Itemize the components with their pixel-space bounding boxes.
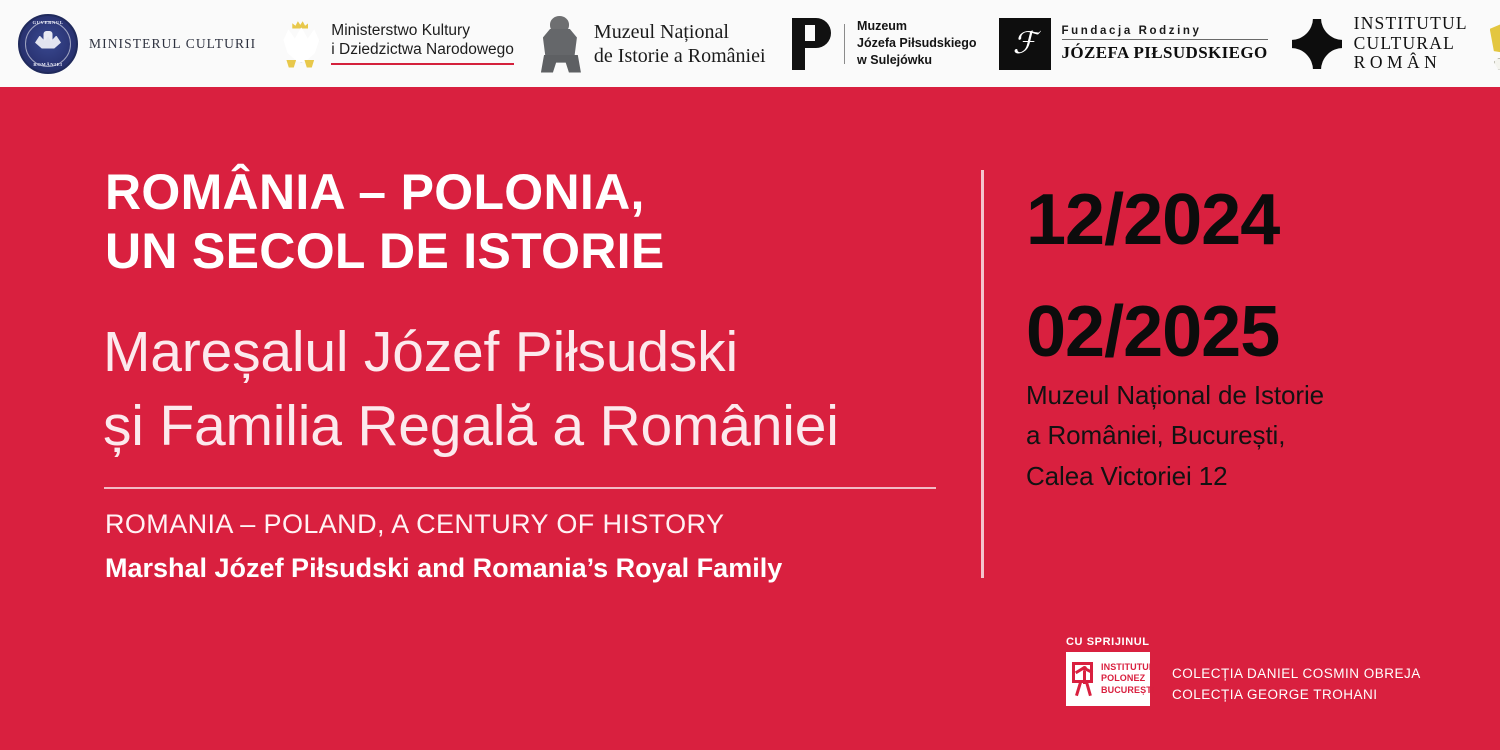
support-label: CU SPRIJINUL [1066, 636, 1150, 648]
seal-bottom-text: ROMÂNIEI [20, 62, 76, 67]
logo-label-ministerul-culturii: MINISTERUL CULTURII [89, 36, 256, 52]
logo-fundacja-rodziny: ℱ Fundacja Rodziny JÓZEFA PIŁSUDSKIEGO [999, 18, 1268, 70]
page-title: ROMÂNIA – POLONIA, UN SECOL DE ISTORIE [105, 163, 985, 280]
logo-divider [844, 24, 846, 64]
logo-label-muzeum-line2: Józefa Piłsudskiego [857, 35, 976, 52]
polish-eagle-icon [278, 19, 322, 69]
english-title: ROMANIA – POLAND, A CENTURY OF HISTORY [105, 509, 1005, 540]
date-end: 02/2025 [1026, 277, 1446, 389]
logo-label-ministerstwo-line2: i Dziedzictwa Narodowego [331, 41, 514, 60]
subtitle-line-1: Mareșalul Józef Piłsudski [103, 315, 1003, 389]
dacian-statue-icon [538, 15, 584, 73]
english-subtitle: Marshal Józef Piłsudski and Romania’s Ro… [105, 553, 1005, 584]
seal-top-text: GUVERNUL [20, 20, 76, 25]
logo-label-icr-line3: ROMÂN [1354, 53, 1468, 73]
date-start: 12/2024 [1026, 165, 1446, 277]
headline-line-2: UN SECOL DE ISTORIE [105, 222, 985, 281]
title-divider [104, 487, 936, 489]
logo-label-mnir-line1: Muzeul Național [594, 20, 766, 44]
logo-label-muzeum-line1: Muzeum [857, 18, 976, 35]
subtitle-line-2: și Familia Regală a României [103, 389, 1003, 463]
letter-p-mark-icon [792, 18, 832, 70]
signature-monogram-icon: ℱ [999, 18, 1051, 70]
ipb-label-line3: BUCUREȘTI [1101, 685, 1155, 696]
partner-logo-bar: GUVERNUL ROMÂNIEI MINISTERUL CULTURII Mi… [0, 0, 1500, 87]
logo-institutul-polonez: INSTITUTUL POLONEZ BUCUREȘTI [1066, 652, 1150, 706]
romania-government-seal-icon: GUVERNUL ROMÂNIEI [18, 14, 78, 74]
monogram-glyph: ℱ [1013, 29, 1037, 59]
polish-flag-rule [331, 63, 514, 66]
logo-label-fundacja-line2: JÓZEFA PIŁSUDSKIEGO [1062, 43, 1268, 63]
venue-line-3: Calea Victoriei 12 [1026, 456, 1426, 496]
headline-line-1: ROMÂNIA – POLONIA, [105, 163, 985, 222]
logo-label-muzeum-line3: w Sulejówku [857, 52, 976, 69]
venue-line-2: a României, București, [1026, 415, 1426, 455]
logo-muzeum-pilsudskiego: Muzeum Józefa Piłsudskiego w Sulejówku [792, 18, 977, 70]
venue-line-1: Muzeul Național de Istorie [1026, 375, 1426, 415]
logo-ministerul-culturii: GUVERNUL ROMÂNIEI MINISTERUL CULTURII [18, 14, 256, 74]
ipb-label-line2: POLONEZ [1101, 673, 1155, 684]
collection-line-2: COLECȚIA GEORGE TROHANI [1172, 685, 1421, 706]
logo-label-fundacja-line1: Fundacja Rodziny [1062, 25, 1268, 40]
logo-label-icr-line2: CULTURAL [1354, 34, 1468, 54]
logo-ministerstwo-kultury: Ministerstwo Kultury i Dziedzictwa Narod… [278, 19, 514, 69]
exhibition-dates: 12/2024 02/2025 [1026, 165, 1446, 388]
collection-line-1: COLECȚIA DANIEL COSMIN OBREJA [1172, 664, 1421, 685]
page-subtitle: Mareșalul Józef Piłsudski și Familia Reg… [103, 315, 1003, 463]
exhibition-poster: GUVERNUL ROMÂNIEI MINISTERUL CULTURII Mi… [0, 0, 1500, 750]
logo-muzeul-national-istorie: Muzeul Național de Istorie a României [538, 15, 766, 73]
logo-institutul-cultural-roman: INSTITUTUL CULTURAL ROMÂN [1292, 14, 1468, 73]
ipb-label-line1: INSTITUTUL [1101, 662, 1155, 673]
collection-credits: COLECȚIA DANIEL COSMIN OBREJA COLECȚIA G… [1172, 664, 1421, 706]
logo-label-icr-line1: INSTITUTUL [1354, 14, 1468, 34]
vertical-divider [981, 170, 984, 578]
romania-coat-of-arms-icon [1490, 14, 1500, 74]
icr-cross-mark-icon [1292, 19, 1342, 69]
logo-label-mnir-line2: de Istorie a României [594, 44, 766, 68]
institutul-polonez-walking-figure-icon [1071, 660, 1097, 698]
logo-romania-coat-of-arms [1490, 14, 1500, 74]
venue-address: Muzeul Național de Istorie a României, B… [1026, 375, 1426, 496]
logo-label-ministerstwo-line1: Ministerstwo Kultury [331, 22, 514, 41]
